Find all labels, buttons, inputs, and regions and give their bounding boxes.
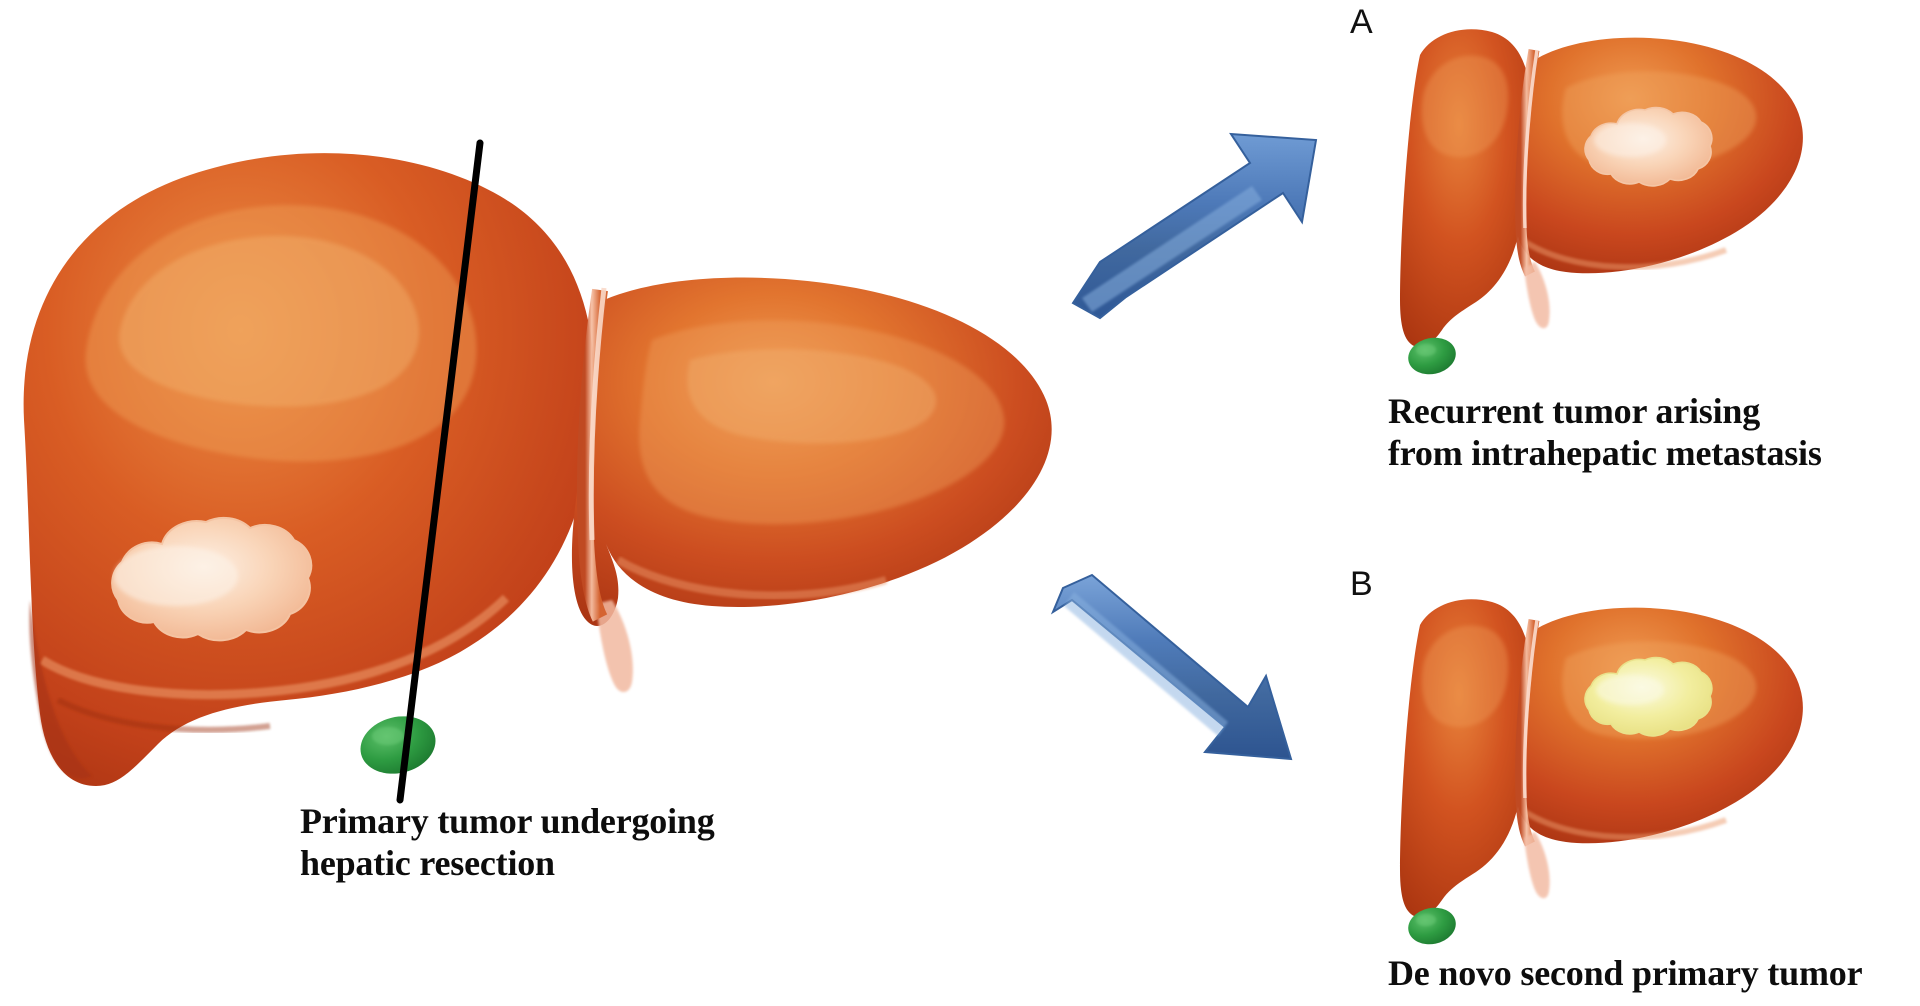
arrow-to-panel-a-icon xyxy=(1073,134,1316,318)
liver-diagram-illustration xyxy=(0,0,1920,1006)
arrow-to-panel-b-icon xyxy=(1053,575,1291,759)
main-liver-left-lobe xyxy=(572,278,1052,693)
panel-b-liver xyxy=(1400,599,1803,948)
panel-b-caption: De novo second primary tumor xyxy=(1388,952,1862,994)
panel-a-liver xyxy=(1400,29,1803,378)
gallbladder xyxy=(354,709,441,782)
primary-tumor-caption: Primary tumor undergoing hepatic resecti… xyxy=(300,800,715,885)
figure-canvas: A B Primary tumor undergoing hepatic res… xyxy=(0,0,1920,1006)
panel-b-letter: B xyxy=(1350,565,1373,604)
panel-a-caption: Recurrent tumor arising from intrahepati… xyxy=(1388,390,1822,475)
panel-a-letter: A xyxy=(1350,3,1373,42)
main-liver-right-lobe xyxy=(24,153,595,786)
